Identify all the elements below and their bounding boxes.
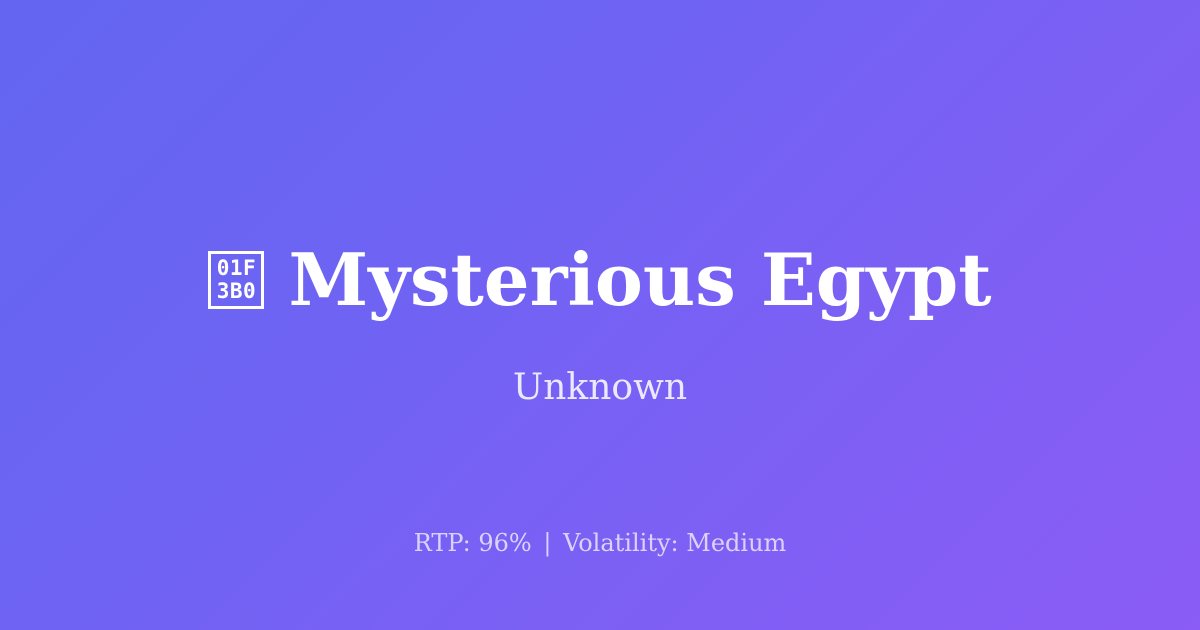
glyph-codepoint-bottom: 3B0 [217, 280, 256, 303]
game-preview-card: 01F 3B0 Mysterious Egypt Unknown RTP: 96… [0, 0, 1200, 630]
title-row: 01F 3B0 Mysterious Egypt [0, 228, 1200, 332]
game-title: Mysterious Egypt [288, 244, 991, 316]
game-meta-line: RTP: 96% | Volatility: Medium [0, 528, 1200, 558]
slot-machine-icon: 01F 3B0 [208, 251, 264, 309]
provider-name: Unknown [0, 366, 1200, 410]
rtp-value: RTP: 96% [414, 529, 532, 557]
meta-separator: | [539, 529, 555, 557]
volatility-value: Volatility: Medium [563, 529, 786, 557]
glyph-codepoint-top: 01F [217, 257, 256, 280]
